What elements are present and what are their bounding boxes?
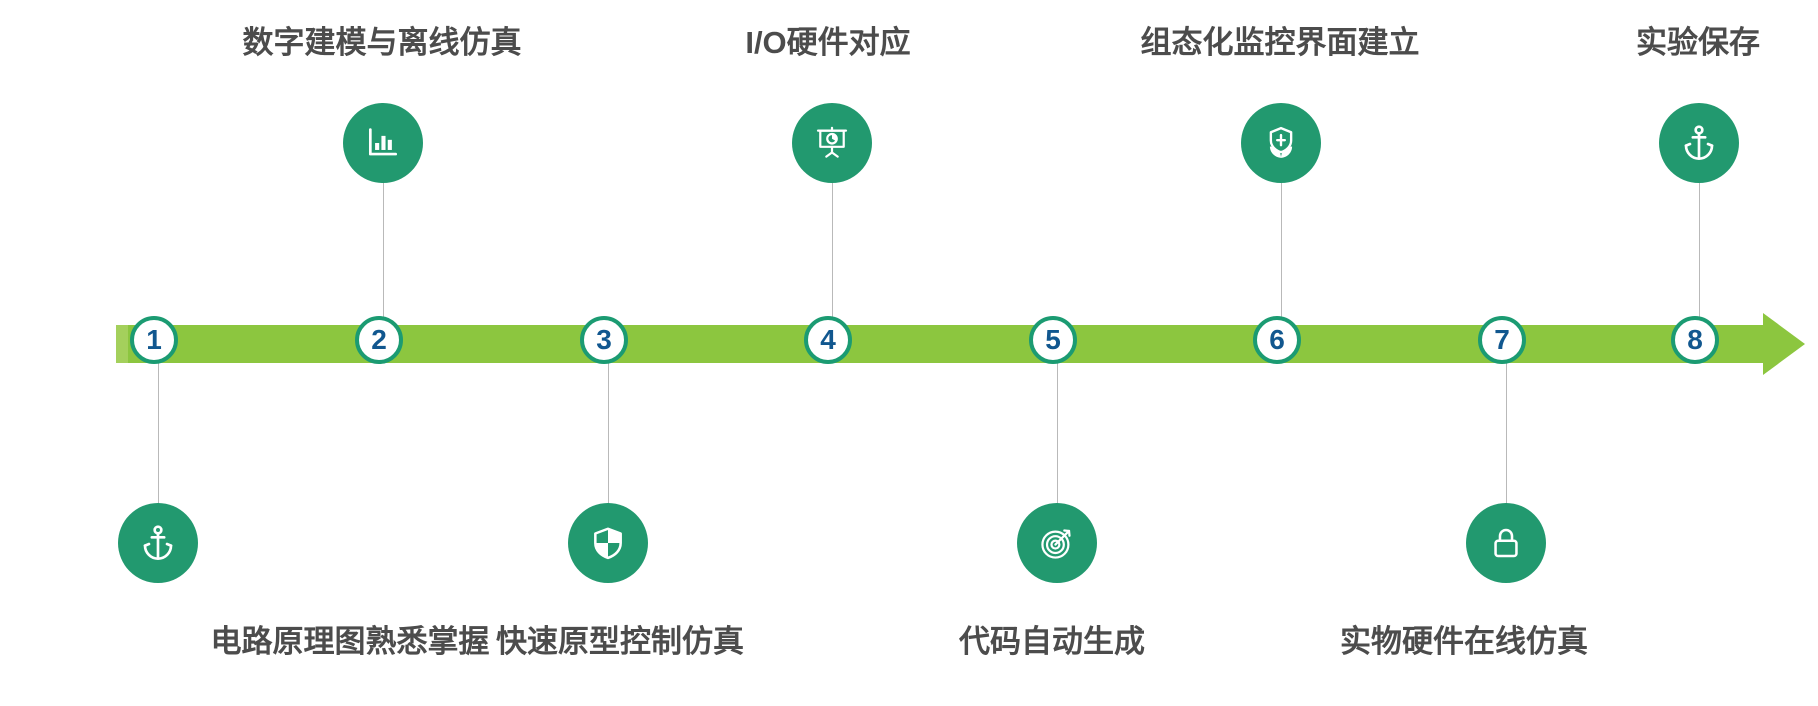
step-7-number[interactable]: 7 — [1478, 316, 1526, 364]
timeline-infographic: 电路原理图熟悉掌握 1 数字建模与离线仿真 2 — [0, 0, 1818, 706]
shield-icon[interactable] — [568, 503, 648, 583]
anchor-icon[interactable] — [118, 503, 198, 583]
step-3-label: 快速原型控制仿真 — [496, 625, 744, 659]
step-1-number[interactable]: 1 — [130, 316, 178, 364]
step-5-label: 代码自动生成 — [959, 625, 1145, 659]
timeline-bar — [0, 0, 1818, 706]
step-5-number[interactable]: 5 — [1029, 316, 1077, 364]
step-3-number[interactable]: 3 — [580, 316, 628, 364]
step-4-label: I/O硬件对应 — [745, 26, 910, 60]
anchor-icon[interactable] — [1659, 103, 1739, 183]
step-6-number[interactable]: 6 — [1253, 316, 1301, 364]
step-8-label: 实验保存 — [1636, 26, 1760, 60]
step-6-label: 组态化监控界面建立 — [1141, 26, 1420, 60]
target-dart-icon[interactable] — [1017, 503, 1097, 583]
presentation-chart-icon[interactable] — [792, 103, 872, 183]
eco-leaf-shield-icon[interactable] — [1241, 103, 1321, 183]
bar-chart-icon[interactable] — [343, 103, 423, 183]
step-1-label: 电路原理图熟悉掌握 — [211, 625, 490, 659]
step-2-label: 数字建模与离线仿真 — [243, 26, 522, 60]
step-4-number[interactable]: 4 — [804, 316, 852, 364]
lock-icon[interactable] — [1466, 503, 1546, 583]
step-8-number[interactable]: 8 — [1671, 316, 1719, 364]
step-2-number[interactable]: 2 — [355, 316, 403, 364]
step-7-label: 实物硬件在线仿真 — [1340, 625, 1588, 659]
